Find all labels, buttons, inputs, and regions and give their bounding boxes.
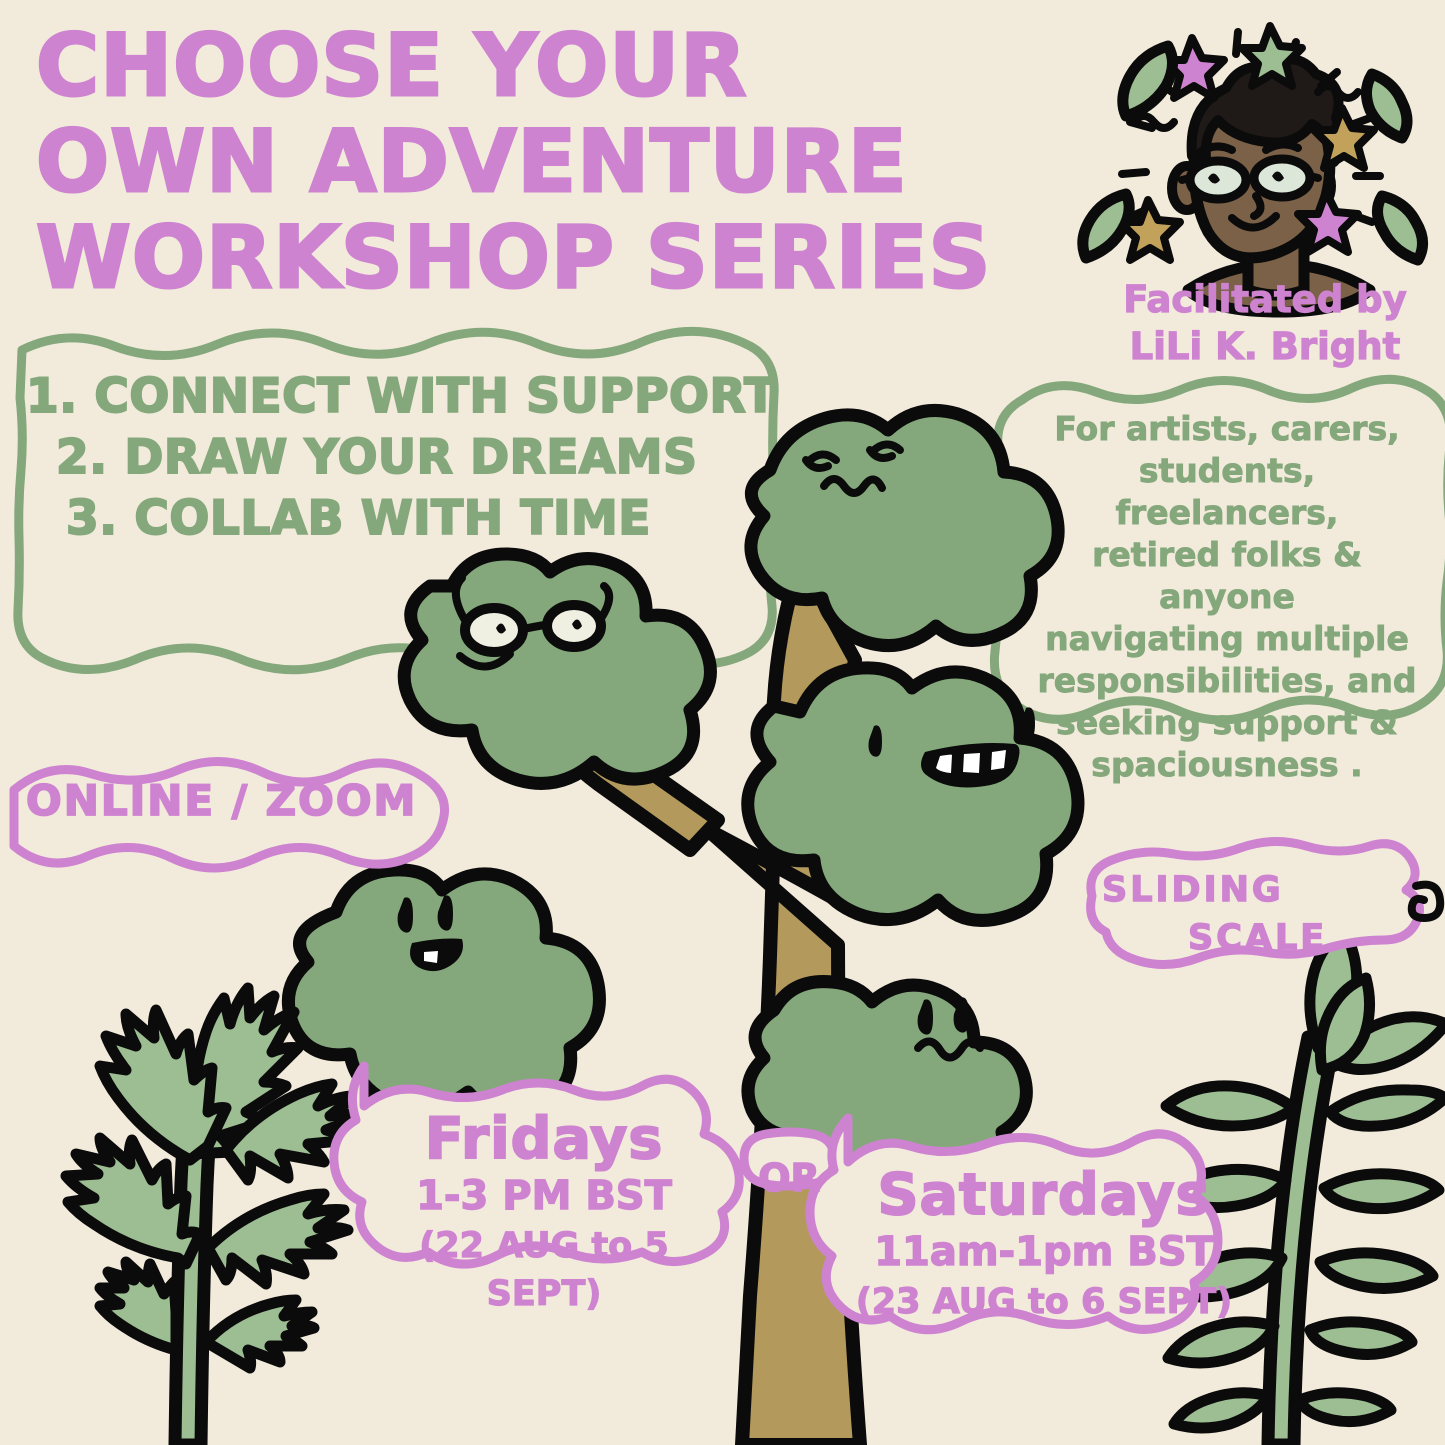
audience-line-7: spaciousness . [1030,744,1424,786]
fridays-date-range: (22 AUG to 5 SEPT) [368,1222,720,1318]
schedule-option-fridays: Fridays 1-3 PM BST (22 AUG to 5 SEPT) [368,1108,720,1318]
sliding-scale-line-2: Scale [1102,914,1402,962]
audience-line-3: retired folks & anyone [1030,534,1424,618]
facilitator-portrait [1083,26,1423,312]
fridays-day: Fridays [368,1108,720,1170]
audience-description: For artists, carers, students, freelance… [1030,408,1424,786]
leaf-right [1377,196,1422,260]
sliding-scale-line-1: Sliding [1102,866,1402,914]
audience-line-4: navigating multiple [1030,618,1424,660]
leaf-mid-left [1083,194,1129,258]
audience-line-1: For artists, carers, [1030,408,1424,450]
poster-canvas: .blk{fill:none;stroke:#0B0B0B;stroke-wid… [0,0,1445,1445]
title-line-1: Choose Your [36,18,1046,114]
saturdays-date-range: (23 AUG to 6 SEPT) [852,1278,1236,1326]
step-item-1: 1. Connect with support [26,366,746,427]
title-line-3: Workshop Series [36,210,1046,306]
star-green [1242,26,1302,86]
canopy-left [288,870,599,1111]
online-badge-label: ONLINE / ZOOM [26,778,426,824]
step-item-3: 3. Collab with time [26,488,746,549]
schedule-option-saturdays: Saturdays 11am-1pm BST (23 AUG to 6 SEPT… [852,1164,1236,1326]
facilitator-credit: Facilitated by LiLi K. Bright [1100,276,1430,370]
workshop-steps-list: 1. Connect with support 2. Draw your dre… [26,366,746,549]
title-line-2: Own Adventure [36,114,1046,210]
saturdays-time: 11am-1pm BST [852,1226,1236,1278]
facilitator-line-1: Facilitated by [1100,276,1430,323]
audience-line-6: seeking support & [1030,702,1424,744]
step-item-2: 2. Draw your dreams [26,427,746,488]
leaf-top-left [1123,46,1173,116]
or-separator-label: OR [748,1158,830,1198]
page-title: Choose Your Own Adventure Workshop Serie… [36,18,1046,306]
audience-line-5: responsibilities, and [1030,660,1424,702]
audience-line-2: students, freelancers, [1030,450,1424,534]
fridays-time: 1-3 PM BST [368,1170,720,1222]
sliding-scale-badge: Sliding Scale [1102,866,1402,962]
facilitator-name: LiLi K. Bright [1100,323,1430,370]
saturdays-day: Saturdays [852,1164,1236,1226]
